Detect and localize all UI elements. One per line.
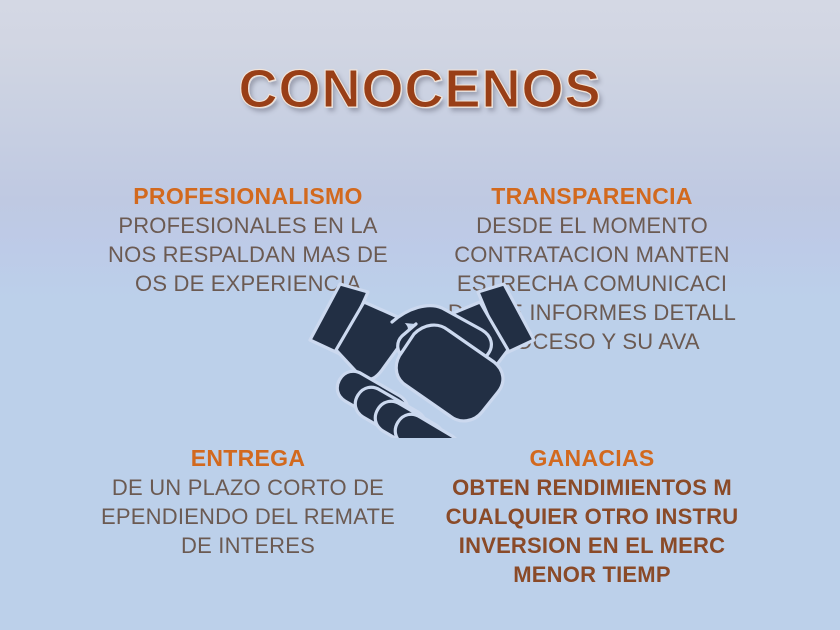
feature-body-line: EPENDIENDO DEL REMATE (101, 502, 395, 531)
handshake-icon (296, 278, 548, 438)
feature-block-profesionalismo: PROFESIONALISMO PROFESIONALES EN LA NOS … (0, 182, 248, 298)
slide-canvas: CONOCENOS PROFESIONALISMO PROFESIONALES … (0, 0, 840, 630)
feature-body-line: PROFESIONALES EN LA (108, 211, 388, 240)
feature-body-line: MENOR TIEMP (446, 560, 739, 589)
feature-heading-entrega: ENTREGA (101, 444, 395, 473)
feature-body-line: NOS RESPALDAN MAS DE (108, 240, 388, 269)
feature-heading-profesionalismo: PROFESIONALISMO (108, 182, 388, 211)
feature-heading-transparencia: TRANSPARENCIA (448, 182, 736, 211)
handshake-icon-svg (296, 278, 548, 438)
feature-body-line: CUALQUIER OTRO INSTRU (446, 502, 739, 531)
page-title-text: CONOCENOS (238, 58, 601, 120)
feature-body-line: CONTRATACION MANTEN (448, 240, 736, 269)
feature-body-line: DE UN PLAZO CORTO DE (101, 473, 395, 502)
feature-block-inner: ENTREGA DE UN PLAZO CORTO DE EPENDIENDO … (101, 444, 395, 560)
feature-body-line: OBTEN RENDIMIENTOS M (446, 473, 739, 502)
feature-block-transparencia: TRANSPARENCIA DESDE EL MOMENTO CONTRATAC… (592, 182, 840, 356)
feature-block-inner: GANACIAS OBTEN RENDIMIENTOS M CUALQUIER … (446, 444, 739, 589)
feature-block-ganacias: GANACIAS OBTEN RENDIMIENTOS M CUALQUIER … (592, 444, 840, 589)
feature-body-line: DE INTERES (101, 531, 395, 560)
feature-body-line: DESDE EL MOMENTO (448, 211, 736, 240)
page-title: CONOCENOS (0, 58, 840, 120)
feature-block-entrega: ENTREGA DE UN PLAZO CORTO DE EPENDIENDO … (0, 444, 248, 560)
feature-heading-ganacias: GANACIAS (446, 444, 739, 473)
feature-body-line: INVERSION EN EL MERC (446, 531, 739, 560)
